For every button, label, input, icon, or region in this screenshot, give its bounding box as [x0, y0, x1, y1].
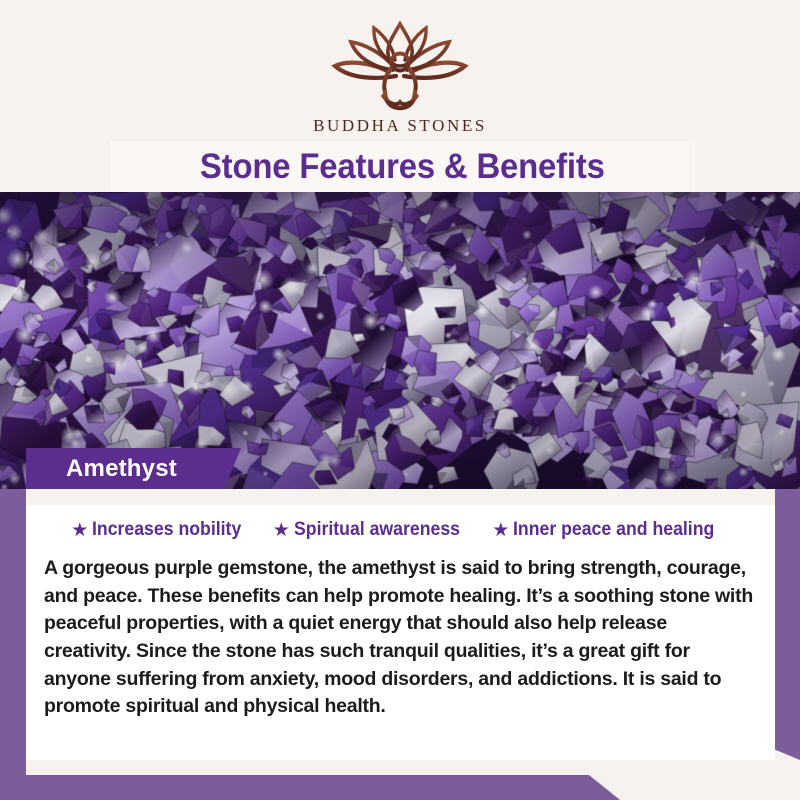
frame-accent-bottom	[0, 775, 620, 800]
frame-accent-left	[0, 489, 26, 800]
separator-strip	[26, 489, 775, 505]
lotus-meditating-figure-icon	[313, 18, 487, 114]
benefit-item-1: ★ Increases nobility	[71, 519, 253, 541]
title-banner: Stone Features & Benefits	[110, 141, 695, 192]
amethyst-crystal-cluster-photo	[0, 192, 800, 489]
stone-name-label: Amethyst	[66, 455, 177, 483]
hero-image	[0, 192, 800, 489]
brand-name: BUDDHA STONES	[0, 116, 800, 136]
star-icon: ★	[273, 521, 290, 540]
description-paragraph: A gorgeous purple gemstone, the amethyst…	[38, 555, 763, 721]
infographic-page: BUDDHA STONES Stone Features & Benefits …	[0, 0, 800, 800]
star-icon: ★	[71, 521, 88, 540]
stone-name-tag: Amethyst	[26, 448, 241, 490]
benefits-row: ★ Increases nobility ★ Spiritual awarene…	[38, 513, 763, 541]
page-title: Stone Features & Benefits	[200, 147, 605, 187]
frame-accent-right-bevel	[775, 744, 800, 760]
benefit-item-2: ★ Spiritual awareness	[273, 519, 473, 541]
benefit-label-3: Inner peace and healing	[513, 519, 714, 541]
benefit-item-3: ★ Inner peace and healing	[492, 519, 730, 541]
content-panel: ★ Increases nobility ★ Spiritual awarene…	[26, 505, 775, 760]
benefit-label-1: Increases nobility	[92, 519, 241, 541]
star-icon: ★	[492, 521, 509, 540]
benefit-label-2: Spiritual awareness	[294, 519, 460, 541]
brand-logo: BUDDHA STONES	[0, 18, 800, 136]
